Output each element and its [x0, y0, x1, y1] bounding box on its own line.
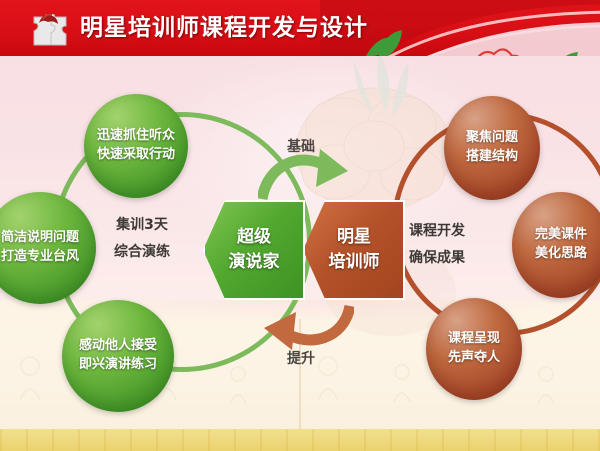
orange-node-2-line2: 美化思路 [535, 245, 587, 264]
green-node-1-line1: 迅速抓住听众 [97, 127, 175, 146]
orange-node-2-line1: 完美课件 [535, 226, 587, 245]
green-node-3-line2: 即兴演讲练习 [79, 356, 157, 375]
left-center-label-line1: 集训3天 [114, 212, 170, 239]
orange-node-1[interactable]: 聚焦问题 搭建结构 [444, 96, 540, 200]
right-center-label: 课程开发 确保成果 [409, 218, 465, 271]
orange-chevron-line1: 明星 [337, 225, 371, 251]
puzzle-piece-icon [27, 14, 71, 48]
arrow-left-elevate-icon [258, 302, 354, 354]
orange-node-3[interactable]: 课程呈现 先声夺人 [426, 298, 522, 400]
green-chevron-line1: 超级 [237, 225, 271, 251]
header-bar: 明星培训师课程开发与设计 [0, 0, 600, 56]
slide-canvas: 明星培训师课程开发与设计 迅速抓住听众 快速采取行动 简洁说明问题 打造专业台风… [0, 0, 600, 451]
arrow-top-label: 基础 [287, 136, 315, 156]
right-center-label-line2: 确保成果 [409, 245, 465, 272]
orange-node-3-line1: 课程呈现 [448, 330, 500, 349]
orange-node-1-line2: 搭建结构 [466, 148, 518, 167]
left-center-label: 集训3天 综合演练 [114, 212, 170, 265]
page-title: 明星培训师课程开发与设计 [80, 8, 368, 42]
green-node-2-line2: 打造专业台风 [1, 248, 79, 267]
green-chevron-line2: 演说家 [229, 250, 280, 276]
orange-node-2[interactable]: 完美课件 美化思路 [512, 192, 600, 298]
orange-node-3-line2: 先声夺人 [448, 349, 500, 368]
green-node-3-line1: 感动他人接受 [79, 337, 157, 356]
bottom-decorative-band [0, 429, 600, 451]
orange-chevron-line2: 培训师 [329, 250, 380, 276]
green-node-2-line1: 简洁说明问题 [1, 229, 79, 248]
green-node-1-line2: 快速采取行动 [97, 146, 175, 165]
green-node-1[interactable]: 迅速抓住听众 快速采取行动 [84, 94, 188, 198]
right-center-label-line1: 课程开发 [409, 218, 465, 245]
arrow-bottom-label: 提升 [287, 348, 315, 368]
green-node-3[interactable]: 感动他人接受 即兴演讲练习 [62, 300, 174, 412]
orange-node-1-line1: 聚焦问题 [466, 129, 518, 148]
left-center-label-line2: 综合演练 [114, 239, 170, 266]
